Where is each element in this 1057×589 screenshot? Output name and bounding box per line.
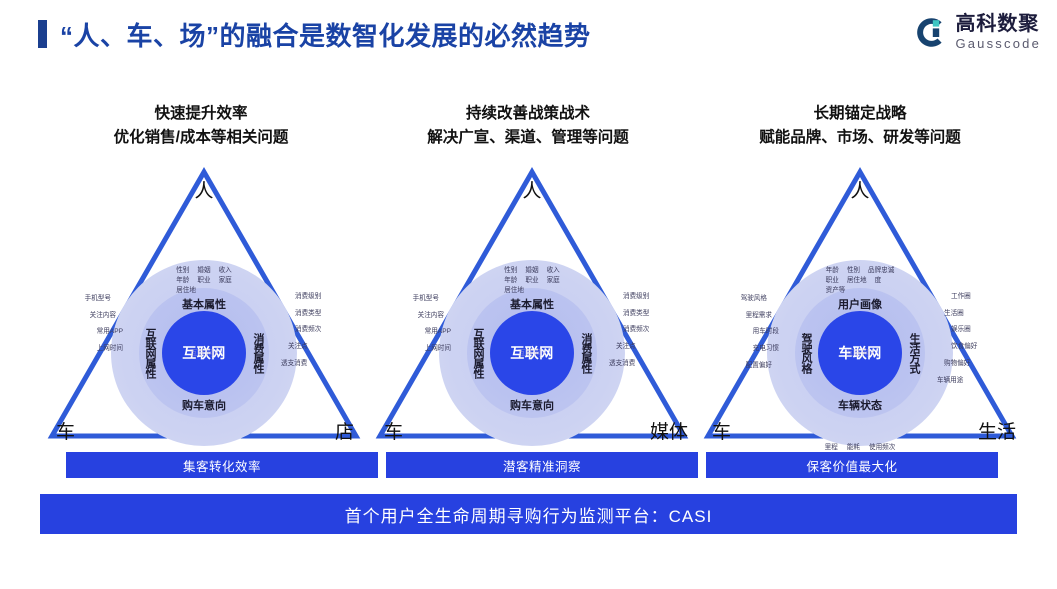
triangle-panel-3: 人 车 生活 车联网 互联网+ 用户画像 车辆状态 驾驶风格 生活方式 年龄性别… [698,160,1022,448]
tag: 消费级别 [281,292,321,302]
outcome-bar-3: 保客价值最大化 [706,452,998,478]
slide-header: “人、车、场”的融合是数智化发展的必然趋势 高科数聚 Gausscode [0,0,1057,68]
triangle-2-quadrant-right: 消费属性 [578,333,594,373]
tag: 消费类型 [609,309,649,319]
triangle-2-quadrant-top: 基本属性 [510,296,554,312]
triangle-3-vertex-right: 生活 [978,423,1016,442]
tag: 关注点 [281,342,321,352]
column-heading-1: 快速提升效率 优化销售/成本等相关问题 [36,102,366,150]
triangle-1-watermark: 互联网+ [190,348,219,359]
tag: 上网时间 [85,344,123,354]
tag: 消费类型 [281,309,321,319]
triangle-3-top-tags: 年龄性别品牌忠诚 职业居住地度 资产等 [826,266,895,297]
tag: 车辆用途 [937,376,977,386]
column-heading-3-line1: 长期锚定战略 [690,102,1030,126]
triangle-2-watermark: 互联网+ [518,348,547,359]
tag: 资产等 [826,286,846,296]
triangle-panel-1: 人 车 店 互联网 互联网+ 基本属性 购车意向 互联网属性 消费属性 性别婚姻… [42,160,366,448]
tag: 性别 [504,266,517,276]
page-title: “人、车、场”的融合是数智化发展的必然趋势 [60,16,591,53]
triangle-3-rings: 车联网 互联网+ 用户画像 车辆状态 驾驶风格 生活方式 年龄性别品牌忠诚 职业… [767,260,953,446]
tag: 职业 [826,276,839,286]
tag: 生活圈 [937,309,977,319]
triangle-panel-2: 人 车 媒体 互联网 互联网+ 基本属性 购车意向 互联网属性 消费属性 性别婚… [370,160,694,448]
tag: 居住地 [847,276,867,286]
tag: 关注内容 [85,311,123,321]
tag: 婚姻 [525,266,538,276]
column-heading-1-line1: 快速提升效率 [36,102,366,126]
tag: 居住地 [504,286,524,296]
triangle-1-right-tags: 消费级别 消费类型 消费频次 关注点 透支消费 [281,292,321,376]
tag: 消费频次 [281,325,321,335]
platform-banner: 首个用户全生命周期寻购行为监测平台：CASI [40,494,1017,534]
column-heading-2: 持续改善战策战术 解决广宣、渠道、管理等问题 [368,102,688,150]
tag: 驾驶风格 [741,294,779,304]
triangle-2-vertex-top: 人 [522,182,541,201]
triangle-3-left-tags: 驾驶风格 里程需求 用车时段 充电习惯 配置偏好 [741,294,779,378]
triangle-1-vertex-right: 店 [335,423,354,442]
outcome-bar-1: 集客转化效率 [66,452,378,478]
tag: 购物偏好 [937,359,977,369]
column-heading-1-line2: 优化销售/成本等相关问题 [36,126,366,150]
triangle-1-quadrant-left: 互联网属性 [142,328,158,378]
triangle-3-quadrant-bottom: 车辆状态 [838,397,882,413]
outcome-bar-2: 潜客精准洞察 [386,452,698,478]
triangle-2-top-tags: 性别婚姻收入 年龄职业家庭 居住地 [504,266,560,297]
tag: 里程需求 [741,311,779,321]
column-heading-3-line2: 赋能品牌、市场、研发等问题 [690,126,1030,150]
tag: 用车时段 [741,327,779,337]
tag: 年龄 [176,276,189,286]
tag: 手机型号 [85,294,123,304]
tag: 职业 [197,276,210,286]
tag: 关注内容 [413,311,451,321]
tag: 常用APP [85,327,123,337]
triangle-2-vertex-right: 媒体 [650,423,688,442]
tag: 充电习惯 [741,344,779,354]
tag: 婚姻 [197,266,210,276]
column-heading-2-line2: 解决广宣、渠道、管理等问题 [368,126,688,150]
triangle-3-vertex-top: 人 [850,182,869,201]
tag: 工作圈 [937,292,977,302]
triangle-3-quadrant-left: 驾驶风格 [798,333,814,373]
triangle-3-quadrant-right: 生活方式 [906,333,922,373]
triangle-1-rings: 互联网 互联网+ 基本属性 购车意向 互联网属性 消费属性 性别婚姻收入 年龄职… [111,260,297,446]
triangle-2-quadrant-left: 互联网属性 [470,328,486,378]
tag: 透支消费 [609,359,649,369]
triangle-3-watermark: 互联网+ [846,348,875,359]
tag: 职业 [525,276,538,286]
triangle-3-quadrant-top: 用户画像 [838,296,882,312]
triangle-2-right-tags: 消费级别 消费类型 消费频次 关注点 透支消费 [609,292,649,376]
tag: 年龄 [826,266,839,276]
triangle-1-quadrant-bottom: 购车意向 [182,397,226,413]
tag: 上网时间 [413,344,451,354]
tag: 度 [875,276,882,286]
tag: 年龄 [504,276,517,286]
gausscode-logo-icon [915,16,948,49]
tag: 家庭 [547,276,560,286]
tag: 收入 [547,266,560,276]
triangle-2-quadrant-bottom: 购车意向 [510,397,554,413]
column-heading-2-line1: 持续改善战策战术 [368,102,688,126]
tag: 关注点 [609,342,649,352]
tag: 饮食偏好 [937,342,977,352]
logo-text-en: Gausscode [955,37,1041,50]
tag: 品牌忠诚 [868,266,894,276]
tag: 配置偏好 [741,361,779,371]
triangle-2-left-tags: 手机型号 关注内容 常用APP 上网时间 [413,294,451,361]
triangle-2-vertex-left: 车 [384,423,403,442]
tag: 消费级别 [609,292,649,302]
triangle-3-vertex-left: 车 [712,423,731,442]
slide: “人、车、场”的融合是数智化发展的必然趋势 高科数聚 Gausscode 快速提… [0,0,1057,589]
tag: 收入 [219,266,232,276]
triangle-3-right-tags: 工作圈 生活圈 娱乐圈 饮食偏好 购物偏好 车辆用途 [937,292,977,392]
tag: 性别 [176,266,189,276]
tag: 消费频次 [609,325,649,335]
triangle-1-vertex-left: 车 [56,423,75,442]
triangle-1-quadrant-top: 基本属性 [182,296,226,312]
tag: 性别 [847,266,860,276]
logo-text-cn: 高科数聚 [955,14,1041,34]
tag: 居住地 [176,286,196,296]
tag: 透支消费 [281,359,321,369]
triangle-2-rings: 互联网 互联网+ 基本属性 购车意向 互联网属性 消费属性 性别婚姻收入 年龄职… [439,260,625,446]
triangle-1-top-tags: 性别婚姻收入 年龄职业家庭 居住地 [176,266,232,297]
title-accent-mark [38,20,47,48]
column-heading-3: 长期锚定战略 赋能品牌、市场、研发等问题 [690,102,1030,150]
tag: 手机型号 [413,294,451,304]
triangle-1-quadrant-right: 消费属性 [250,333,266,373]
triangle-1-vertex-top: 人 [194,182,213,201]
tag: 娱乐圈 [937,325,977,335]
brand-logo: 高科数聚 Gausscode [915,14,1041,50]
tag: 常用APP [413,327,451,337]
triangle-1-left-tags: 手机型号 关注内容 常用APP 上网时间 [85,294,123,361]
tag: 家庭 [219,276,232,286]
